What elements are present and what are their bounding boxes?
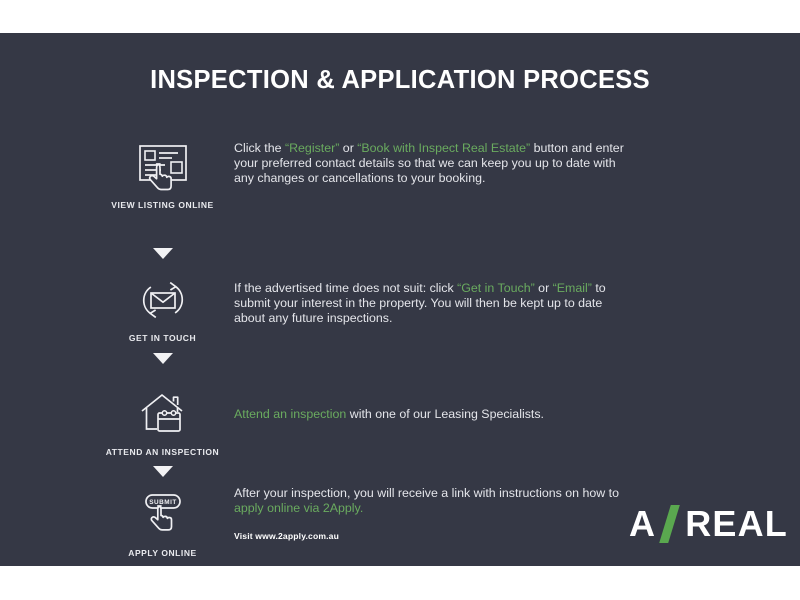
logo-slash-icon <box>659 505 680 543</box>
svg-text:SUBMIT: SUBMIT <box>149 499 177 506</box>
step-label: VIEW LISTING ONLINE <box>95 200 230 210</box>
arrow-down-2 <box>95 353 230 364</box>
triangle-down-icon <box>153 466 173 477</box>
company-logo: A REAL <box>629 503 788 545</box>
text-run: Click the <box>234 141 285 155</box>
step-icon-and-label: SUBMIT APPLY ONLINE <box>95 489 230 558</box>
step-label: ATTEND AN INSPECTION <box>95 447 230 457</box>
listing-window-cursor-icon <box>95 141 230 193</box>
visit-url-footnote: Visit www.2apply.com.au <box>234 529 634 544</box>
highlight-run: “Register” <box>285 141 339 155</box>
triangle-down-icon <box>153 248 173 259</box>
text-run: with one of our Leasing Specialists. <box>346 407 544 421</box>
triangle-down-icon <box>153 353 173 364</box>
step-label: APPLY ONLINE <box>95 548 230 558</box>
highlight-run: Attend an inspection <box>234 407 346 421</box>
step-icon-and-label: ATTEND AN INSPECTION <box>95 388 230 457</box>
highlight-run: “Email” <box>553 281 592 295</box>
step-icon-and-label: GET IN TOUCH <box>95 274 230 343</box>
step-description: If the advertised time does not suit: cl… <box>234 281 634 327</box>
house-calendar-icon <box>95 388 230 440</box>
highlight-run: “Book with Inspect Real Estate” <box>357 141 530 155</box>
step-description: Attend an inspection with one of our Lea… <box>234 407 634 422</box>
step-icon-and-label: VIEW LISTING ONLINE <box>95 141 230 210</box>
highlight-run: “Get in Touch” <box>457 281 535 295</box>
text-run: If the advertised time does not suit: cl… <box>234 281 457 295</box>
arrow-down-1 <box>95 248 230 259</box>
logo-right-text: REAL <box>685 503 788 545</box>
text-run: or <box>339 141 357 155</box>
envelope-refresh-icon <box>95 274 230 326</box>
submit-button-cursor-icon: SUBMIT <box>95 489 230 541</box>
step-label: GET IN TOUCH <box>95 333 230 343</box>
text-run: or <box>535 281 553 295</box>
slide-canvas: INSPECTION & APPLICATION PROCESS <box>0 33 800 566</box>
step-description: Click the “Register” or “Book with Inspe… <box>234 141 634 187</box>
text-run: After your inspection, you will receive … <box>234 486 619 500</box>
logo-left-text: A <box>629 503 656 545</box>
step-description: After your inspection, you will receive … <box>234 486 634 545</box>
arrow-down-3 <box>95 466 230 477</box>
page-title: INSPECTION & APPLICATION PROCESS <box>0 66 800 95</box>
highlight-run: apply online via 2Apply. <box>234 501 363 515</box>
